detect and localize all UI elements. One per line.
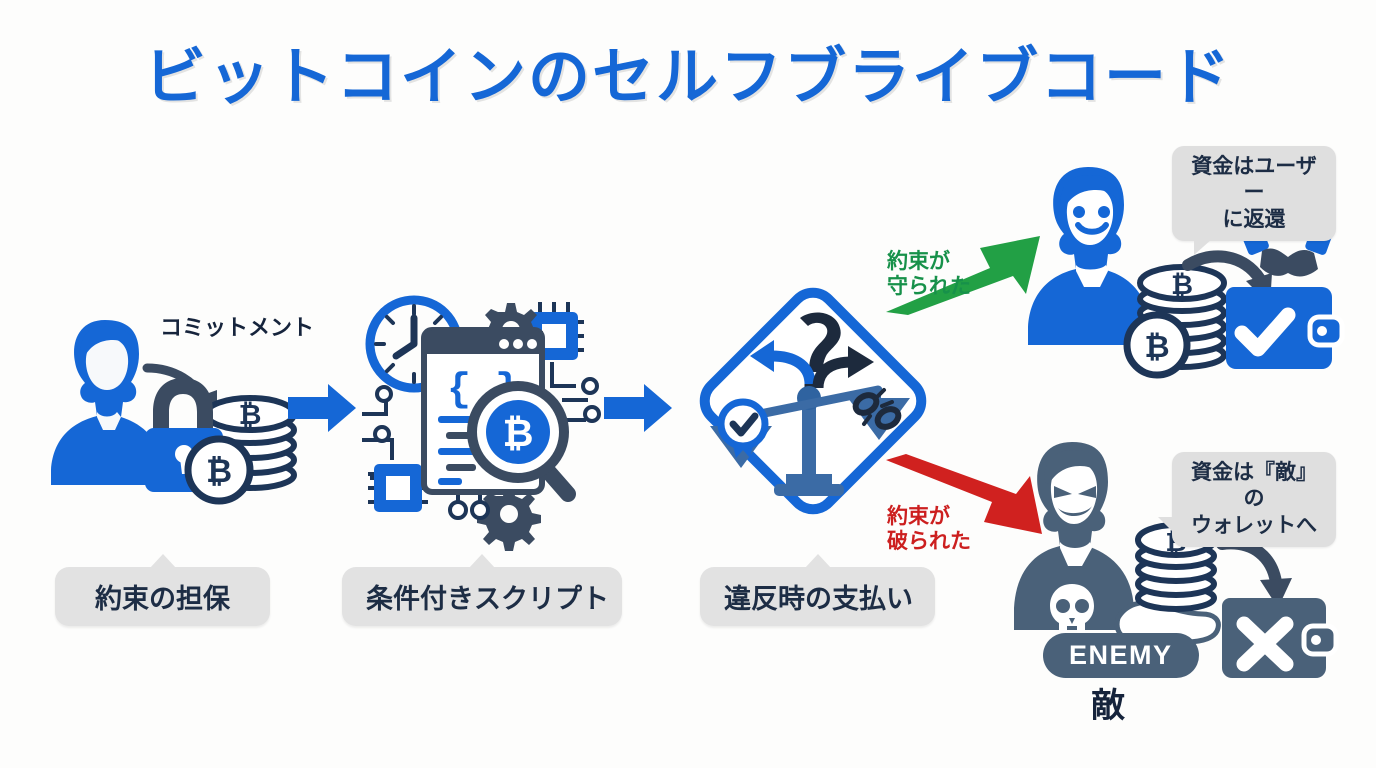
flow-connector-1 <box>288 382 358 434</box>
flow-connector-2 <box>604 382 674 434</box>
outcome-success-bubble: 資金はユーザー に返還 <box>1172 146 1336 241</box>
svg-text:₿: ₿ <box>239 399 262 430</box>
outcome-failure-bubble: 資金は『敵』の ウォレットへ <box>1172 452 1336 547</box>
bitcoin-coin-icon: ₿ <box>1127 315 1187 375</box>
svg-text:₿: ₿ <box>1171 270 1193 300</box>
step-2-caption: 条件付きスクリプト <box>342 567 622 626</box>
page-title: ビットコインのセルフブライブコード <box>0 26 1376 116</box>
step-1-caption: 約束の担保 <box>55 567 270 626</box>
right-arrow-icon <box>604 382 674 434</box>
happy-user-icon <box>1028 167 1150 345</box>
enemy-kanji-label: 敵 <box>1091 678 1125 727</box>
wallet-check-icon <box>1226 287 1342 369</box>
branch-success-label: 約束が 守られた <box>887 249 971 299</box>
step-3-caption: 違反時の支払い <box>700 567 935 626</box>
svg-text:₿: ₿ <box>206 453 232 489</box>
svg-text:₿: ₿ <box>1144 329 1169 364</box>
wallet-cross-icon <box>1222 598 1336 678</box>
chip-icon-1 <box>368 464 428 512</box>
gear-icon-2 <box>477 487 541 551</box>
enemy-badge: ENEMY <box>1043 633 1199 678</box>
branch-failure-label: 約束が 破られた <box>887 504 971 554</box>
commitment-label: コミットメント <box>160 310 314 342</box>
step-2-illustration: { } ₿ <box>352 282 607 540</box>
svg-text:₿: ₿ <box>503 413 534 455</box>
right-arrow-icon <box>288 382 358 434</box>
bitcoin-coin-icon: ₿ <box>188 439 250 501</box>
infographic-canvas: ビットコインのセルフブライブコード ₿ <box>0 0 1376 768</box>
